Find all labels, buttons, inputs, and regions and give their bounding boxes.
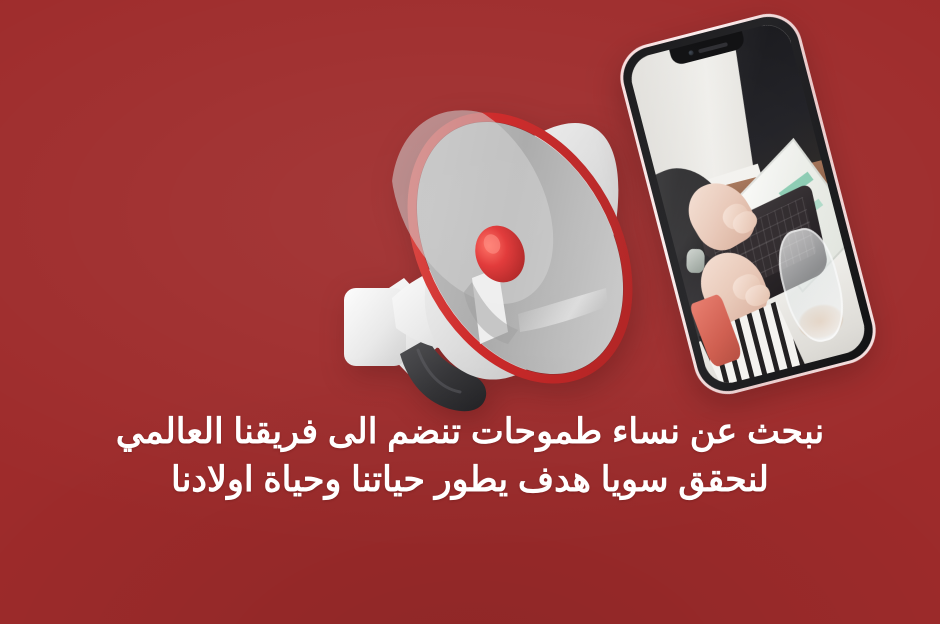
- phone-frame: [613, 6, 883, 401]
- headline: نبحث عن نساء طموحات تنضم الى فريقنا العا…: [0, 408, 940, 503]
- smartphone-icon: [613, 6, 883, 401]
- headline-line-1: نبحث عن نساء طموحات تنضم الى فريقنا العا…: [28, 408, 912, 456]
- headline-line-2: لنحقق سويا هدف يطور حياتنا وحياة اولادنا: [28, 456, 912, 504]
- recruitment-banner: نبحث عن نساء طموحات تنضم الى فريقنا العا…: [0, 0, 940, 624]
- camera-icon: [688, 50, 694, 56]
- megaphone-icon: [322, 82, 642, 412]
- speaker-icon: [698, 42, 728, 53]
- phone-screen: [626, 20, 869, 388]
- phone-bezel: [617, 10, 880, 398]
- screen-photo: [626, 20, 869, 388]
